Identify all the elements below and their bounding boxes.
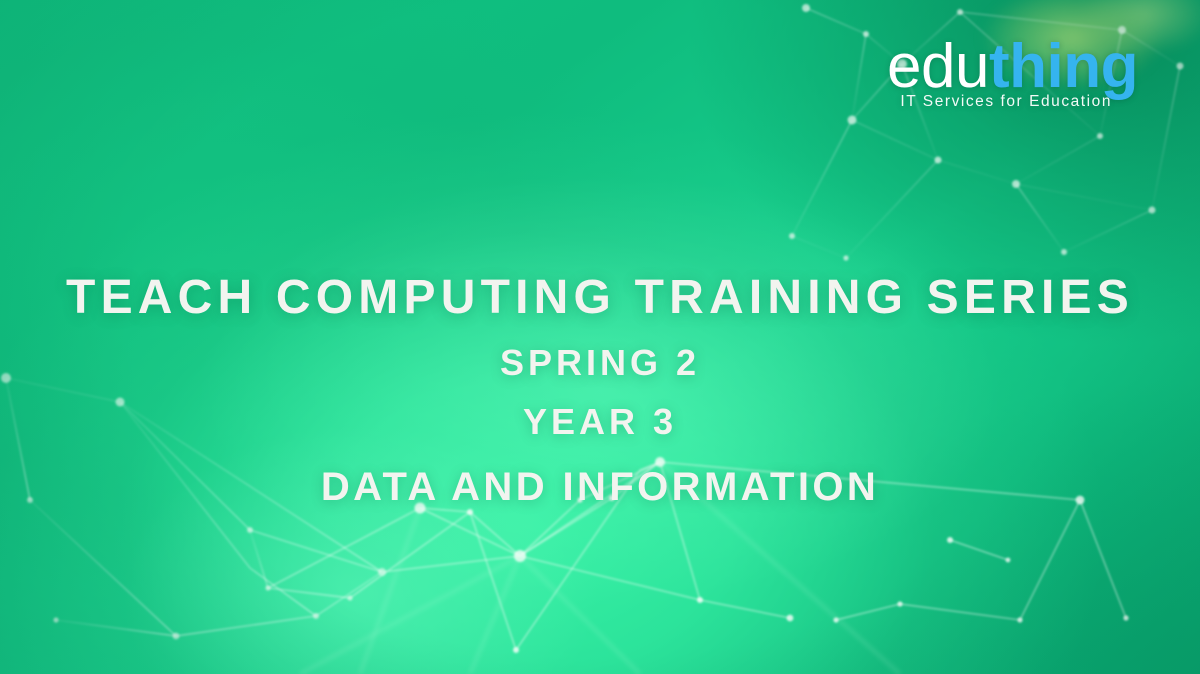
training-title-slide: eduthing IT Services for Education TEACH… xyxy=(0,0,1200,674)
logo-word-thing: thing xyxy=(989,32,1138,101)
year-group-label: YEAR 3 xyxy=(0,404,1200,440)
headline-block: TEACH COMPUTING TRAINING SERIES SPRING 2… xyxy=(0,272,1200,507)
eduthing-logo[interactable]: eduthing IT Services for Education xyxy=(887,36,1138,110)
logo-tagline: IT Services for Education xyxy=(887,94,1112,110)
term-label: SPRING 2 xyxy=(0,345,1200,381)
page-title: TEACH COMPUTING TRAINING SERIES xyxy=(0,272,1200,324)
logo-word-edu: edu xyxy=(887,32,989,101)
topic-label: DATA AND INFORMATION xyxy=(0,467,1200,507)
logo-wordmark: eduthing xyxy=(887,36,1138,98)
